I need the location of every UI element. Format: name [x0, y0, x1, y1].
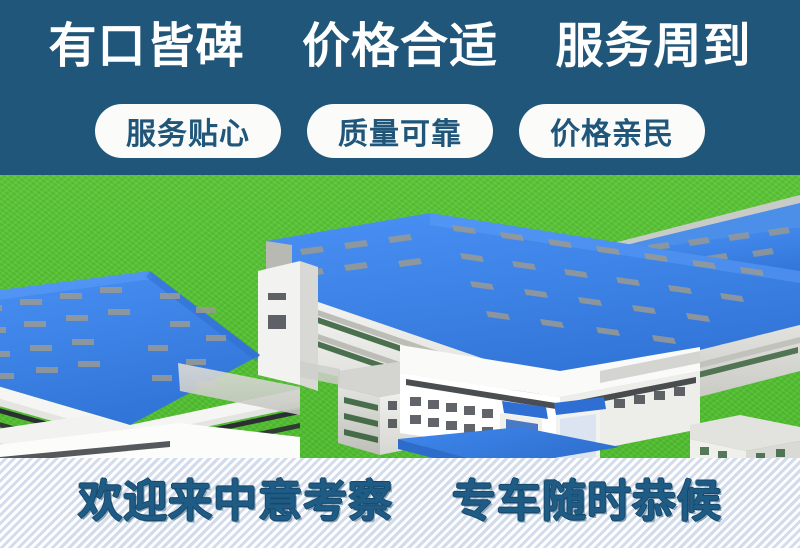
headline-part-3: 服务周到 [555, 16, 751, 76]
footer-slogan-part-2: 专车随时恭候 [452, 476, 722, 527]
footer-slogan-part-1: 欢迎来中意考察 [78, 476, 393, 527]
factory-scene: 中意矿机 ZhongYiKuangJi [0, 175, 800, 460]
building-right-front-annex [690, 415, 800, 460]
promo-banner: 有口皆碑 价格合适 服务周到 服务贴心 质量可靠 价格亲民 [0, 0, 800, 548]
road-and-buildings-svg [0, 175, 800, 460]
feature-pill-price[interactable]: 价格亲民 [519, 104, 705, 158]
feature-pill-service-label: 服务贴心 [126, 109, 250, 153]
feature-pill-price-label: 价格亲民 [550, 109, 674, 153]
headline-part-1: 有口皆碑 [49, 16, 245, 76]
feature-pill-row: 服务贴心 质量可靠 价格亲民 [0, 104, 800, 158]
headline-part-2: 价格合适 [302, 16, 498, 76]
feature-pill-service[interactable]: 服务贴心 [95, 104, 281, 158]
feature-pill-quality[interactable]: 质量可靠 [307, 104, 493, 158]
footer-slogan: 欢迎来中意考察 专车随时恭候 [0, 471, 800, 533]
feature-pill-quality-label: 质量可靠 [338, 109, 462, 153]
page-title: 有口皆碑 价格合适 服务周到 [0, 16, 800, 76]
footer-bar: 欢迎来中意考察 专车随时恭候 [0, 458, 800, 548]
header-bar: 有口皆碑 价格合适 服务周到 服务贴心 质量可靠 价格亲民 [0, 0, 800, 175]
